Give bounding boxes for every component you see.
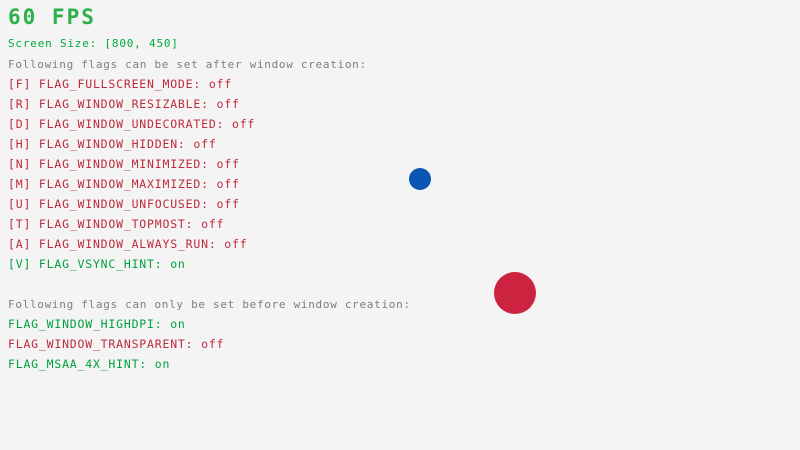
flag-row-window-resizable[interactable]: [R] FLAG_WINDOW_RESIZABLE: off (8, 99, 240, 111)
flag-row-window-minimized[interactable]: [N] FLAG_WINDOW_MINIMIZED: off (8, 159, 240, 171)
flag-row-window-transparent: FLAG_WINDOW_TRANSPARENT: off (8, 339, 224, 351)
screen-size-label: Screen Size: [800, 450] (8, 38, 179, 49)
flag-row-fullscreen-mode[interactable]: [F] FLAG_FULLSCREEN_MODE: off (8, 79, 232, 91)
raylib-window-canvas[interactable]: 60 FPS Screen Size: [800, 450] Following… (0, 0, 800, 450)
runtime-flags-heading: Following flags can be set after window … (8, 59, 367, 70)
fps-counter: 60 FPS (8, 7, 96, 28)
flag-row-msaa-4x-hint: FLAG_MSAA_4X_HINT: on (8, 359, 170, 371)
red-circle-shape (494, 272, 536, 314)
flag-row-window-highdpi: FLAG_WINDOW_HIGHDPI: on (8, 319, 186, 331)
flag-row-window-topmost[interactable]: [T] FLAG_WINDOW_TOPMOST: off (8, 219, 224, 231)
flag-row-window-hidden[interactable]: [H] FLAG_WINDOW_HIDDEN: off (8, 139, 217, 151)
flag-row-vsync-hint[interactable]: [V] FLAG_VSYNC_HINT: on (8, 259, 186, 271)
creation-flags-heading: Following flags can only be set before w… (8, 299, 411, 310)
flag-row-window-unfocused[interactable]: [U] FLAG_WINDOW_UNFOCUSED: off (8, 199, 240, 211)
blue-circle-shape (409, 168, 431, 190)
flag-row-window-undecorated[interactable]: [D] FLAG_WINDOW_UNDECORATED: off (8, 119, 255, 131)
flag-row-window-maximized[interactable]: [M] FLAG_WINDOW_MAXIMIZED: off (8, 179, 240, 191)
flag-row-window-always-run[interactable]: [A] FLAG_WINDOW_ALWAYS_RUN: off (8, 239, 247, 251)
